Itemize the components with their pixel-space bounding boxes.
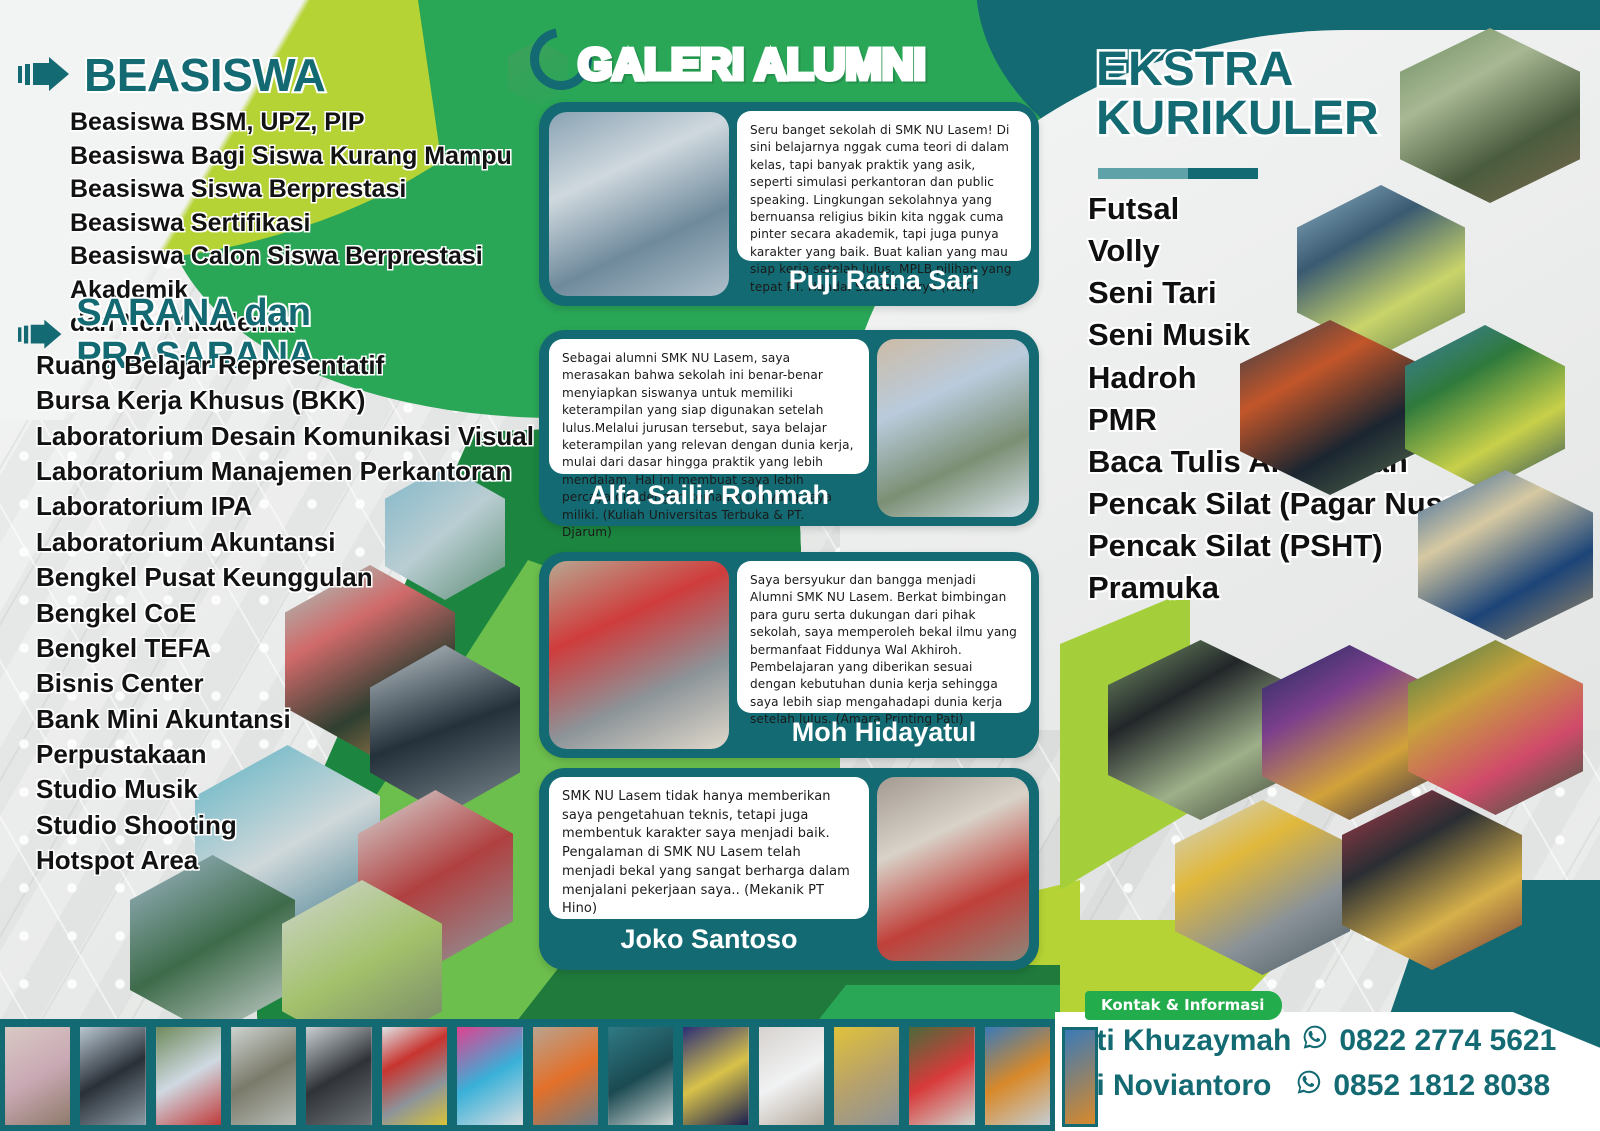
alumni-photo-moh-hidayatul [549, 561, 729, 749]
sarana-list: Ruang Belajar Representatif Bursa Kerja … [36, 348, 534, 878]
list-item [77, 1024, 148, 1128]
list-item: Perpustakaan [36, 737, 534, 772]
title-underline-dark [1188, 168, 1258, 179]
list-item: Studio Musik [36, 772, 534, 807]
whatsapp-icon [1301, 1023, 1329, 1059]
ekstrakurikuler-title-line2: KURIKULER [1096, 95, 1379, 144]
alumni-name: Alfa Sailir Rohmah [549, 480, 869, 511]
alumni-card: Seru banget sekolah di SMK NU Lasem! Di … [539, 102, 1039, 306]
ekstrakurikuler-title-line1: EKSTRA [1096, 46, 1379, 95]
alumni-photo-joko-santoso [877, 777, 1029, 961]
alumni-quote: Sebagai alumni SMK NU Lasem, saya merasa… [549, 339, 869, 474]
list-item: Studio Shooting [36, 808, 534, 843]
list-item: Hotspot Area [36, 843, 534, 878]
center-column: GALERI ALUMNI Seru banget sekolah di SMK… [520, 0, 1060, 1010]
alumni-photo-alfa-sailir-rohmah [877, 339, 1029, 517]
title-underline-light [1098, 168, 1188, 179]
list-item: Pencak Silat (Pagar Nusa) [1088, 483, 1471, 525]
list-item: Pencak Silat (PSHT) [1088, 525, 1471, 567]
list-item: Laboratorium Manajemen Perkantoran [36, 454, 534, 489]
contact-phone[interactable]: 0852 1812 8038 [1333, 1069, 1550, 1103]
list-item: Bisnis Center [36, 666, 534, 701]
beasiswa-title: BEASISWA [84, 48, 325, 102]
arrow-right-icon [18, 55, 70, 95]
list-item: Bursa Kerja Khusus (BKK) [36, 383, 534, 418]
alumni-quote: SMK NU Lasem tidak hanya memberikan saya… [549, 777, 869, 919]
list-item: Laboratorium Akuntansi [36, 525, 534, 560]
list-item: Beasiswa BSM, UPZ, PIP [70, 106, 540, 140]
whatsapp-icon [1295, 1068, 1323, 1104]
list-item [228, 1024, 299, 1128]
list-item: Beasiswa Sertifikasi [70, 207, 540, 241]
list-item: Beasiswa Bagi Siswa Kurang Mampu [70, 140, 540, 174]
list-item: Beasiswa Siswa Berprestasi [70, 173, 540, 207]
ekstrakurikuler-title: EKSTRA KURIKULER [1096, 46, 1379, 144]
list-item [831, 1024, 902, 1128]
list-item [454, 1024, 525, 1128]
alumni-quote: Saya bersyukur dan bangga menjadi Alumni… [737, 561, 1031, 713]
alumni-name: Puji Ratna Sari [737, 265, 1031, 296]
alumni-name: Moh Hidayatul [737, 717, 1031, 748]
list-item: Bengkel CoE [36, 596, 534, 631]
brochure-page: BEASISWA Beasiswa BSM, UPZ, PIP Beasiswa… [0, 0, 1600, 1131]
alumni-name: Joko Santoso [549, 924, 869, 955]
contact-name: Siti Khuzaymah [1068, 1024, 1291, 1058]
alumni-card: Sebagai alumni SMK NU Lasem, saya merasa… [539, 330, 1039, 526]
kontak-badge: Kontak & Informasi [1085, 991, 1282, 1020]
list-item [680, 1024, 751, 1128]
beasiswa-section-header: BEASISWA [18, 48, 325, 102]
list-item [982, 1024, 1053, 1128]
list-item: Pramuka [1088, 567, 1471, 609]
alumni-photo-puji-ratna-sari [549, 112, 729, 296]
list-item [756, 1024, 827, 1128]
alumni-card: SMK NU Lasem tidak hanya memberikan saya… [539, 768, 1039, 970]
list-item: Laboratorium IPA [36, 489, 534, 524]
list-item: Bengkel TEFA [36, 631, 534, 666]
contact-row-1: Siti Khuzaymah 0822 2774 5621 [1068, 1023, 1556, 1059]
contact-row-2: Tri Noviantoro 0852 1812 8038 [1068, 1068, 1550, 1104]
list-item [303, 1024, 374, 1128]
galeri-alumni-title: GALERI ALUMNI [578, 40, 926, 90]
list-item [153, 1024, 224, 1128]
contact-name: Tri Noviantoro [1068, 1069, 1271, 1103]
list-item [1062, 1027, 1098, 1127]
alumni-photo-strip [0, 1021, 1055, 1131]
list-item: Laboratorium Desain Komunikasi Visual [36, 419, 534, 454]
galeri-alumni-header: GALERI ALUMNI [578, 40, 926, 90]
list-item [530, 1024, 601, 1128]
list-item [379, 1024, 450, 1128]
contact-phone[interactable]: 0822 2774 5621 [1339, 1024, 1556, 1058]
alumni-card: Saya bersyukur dan bangga menjadi Alumni… [539, 552, 1039, 758]
list-item: Bank Mini Akuntansi [36, 702, 534, 737]
alumni-quote: Seru banget sekolah di SMK NU Lasem! Di … [737, 111, 1031, 261]
list-item: Bengkel Pusat Keunggulan [36, 560, 534, 595]
list-item: Ruang Belajar Representatif [36, 348, 534, 383]
left-column: BEASISWA Beasiswa BSM, UPZ, PIP Beasiswa… [0, 0, 540, 1010]
list-item [2, 1024, 73, 1128]
list-item [906, 1024, 977, 1128]
list-item [605, 1024, 676, 1128]
